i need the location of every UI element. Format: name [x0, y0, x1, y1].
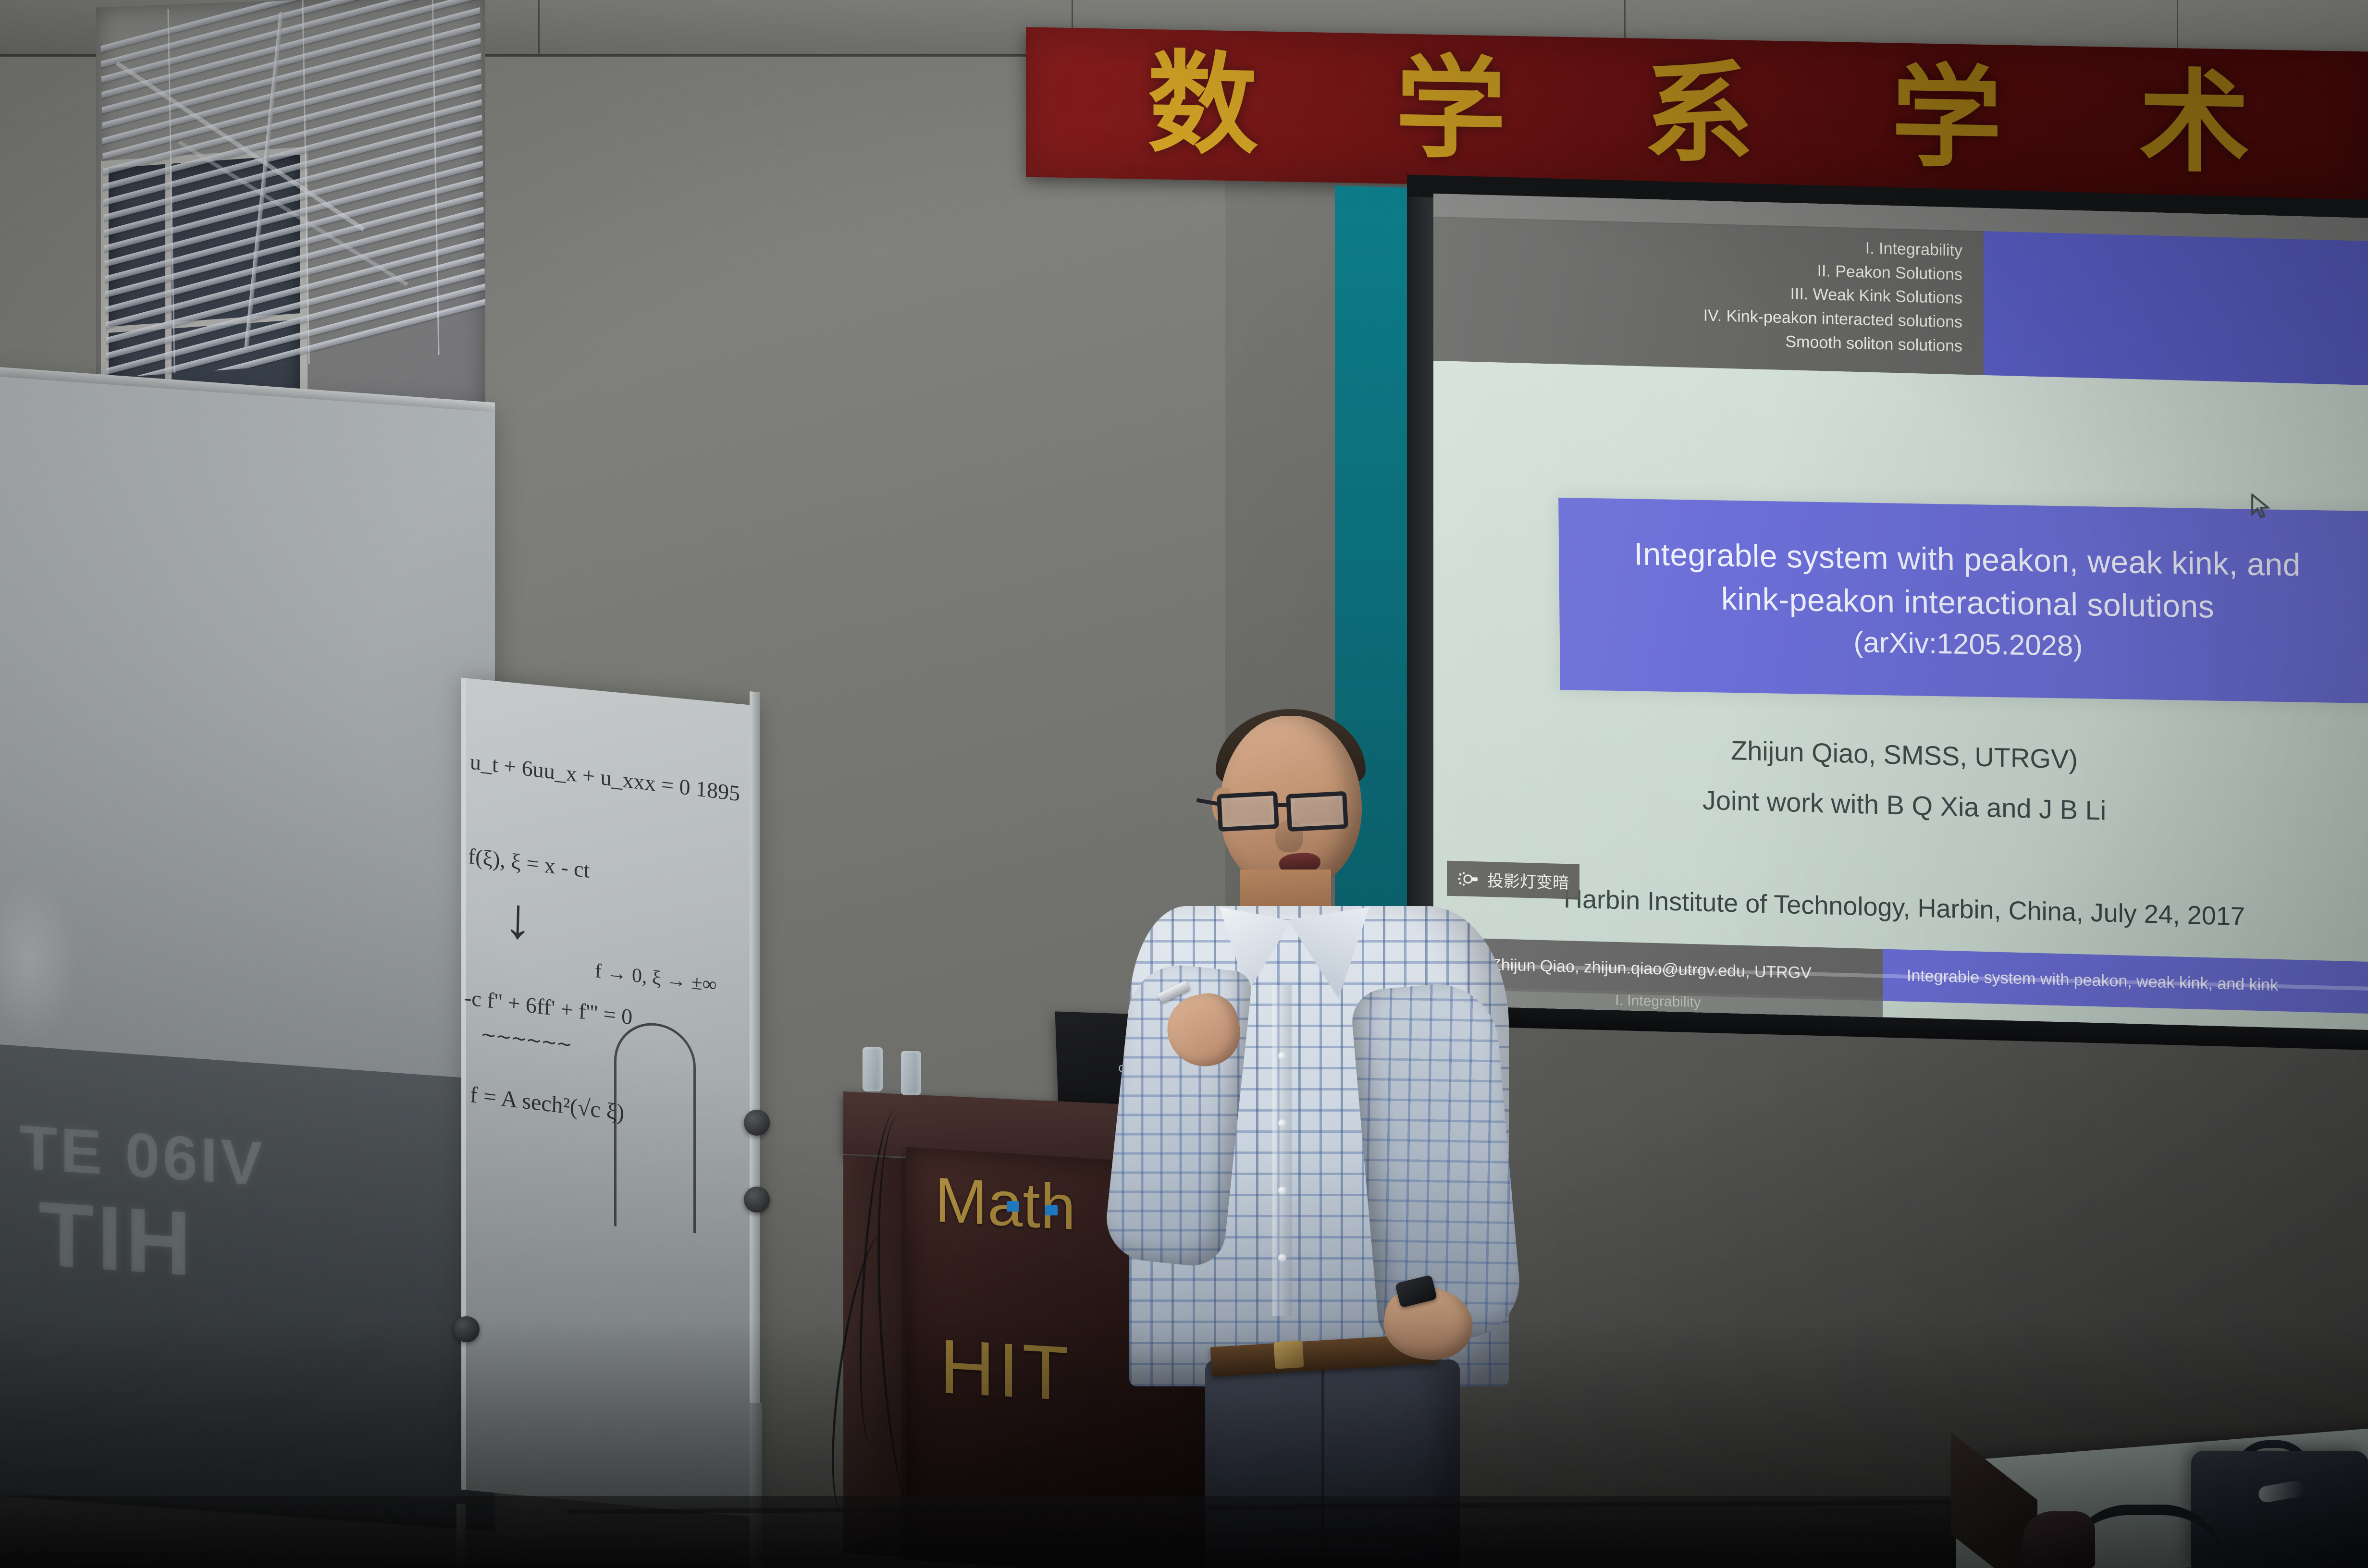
slide-title-line-1: Integrable system with peakon, weak kink…: [1559, 534, 2368, 584]
banner-char-5: 术: [2139, 67, 2250, 180]
whiteboard-on-stand: u_t + 6uu_x + u_xxx = 0 1895 f(ξ), ξ = x…: [461, 692, 788, 1568]
speaker-belt-buckle: [1273, 1340, 1304, 1369]
podium-plaque-hit: HIT: [939, 1322, 1072, 1418]
left-screen-ghost-text-2: TIH: [38, 1181, 194, 1297]
whiteboard-down-arrow: ↓: [503, 897, 533, 941]
mouse-pointer-icon[interactable]: [2250, 493, 2271, 522]
slide-outline-panel: I. Integrability II. Peakon Solutions II…: [1433, 217, 1984, 375]
bottle-body: [863, 1047, 883, 1091]
bottle-body: [901, 1051, 921, 1095]
water-bottle-rear[interactable]: [863, 1047, 883, 1091]
venetian-blinds[interactable]: [100, 0, 486, 378]
speaker-eyeglasses: [1214, 789, 1372, 835]
slide-title-band: Integrable system with peakon, weak kink…: [1558, 498, 2368, 703]
whiteboard-knob-upper[interactable]: [744, 1110, 770, 1136]
slide-title-line-2: kink-peakon interactional solutions: [1559, 577, 2368, 627]
lecture-hall-photo: TE 06IV TIH u_t + 6uu_x + u_xxx = 0 1895…: [0, 0, 2368, 1568]
foreground-shoe: [2023, 1511, 2095, 1568]
bottle-cap: [1045, 1205, 1058, 1215]
speaker-presenter: [1096, 716, 1576, 1568]
banner-char-1: 数: [1147, 49, 1258, 161]
speaker-shirt-placket: [1272, 985, 1292, 1316]
banner-char-3: 系: [1643, 58, 1754, 171]
whiteboard-frame-right: [750, 691, 760, 1504]
left-screen-highlight: [0, 876, 77, 1046]
whiteboard-soliton-sketch: [614, 1020, 696, 1234]
water-bottle-front[interactable]: [901, 1051, 921, 1095]
bottle-cap: [1007, 1201, 1019, 1212]
department-academic-banner: 数 学 系 学 术: [1026, 27, 2368, 201]
whiteboard-knob-left[interactable]: [454, 1316, 480, 1342]
slide-accent-chip: [1984, 231, 2368, 385]
banner-char-4: 学: [1891, 62, 2002, 175]
whiteboard-knob-lower[interactable]: [744, 1187, 770, 1213]
slide-arxiv-id: (arXiv:1205.2028): [1560, 620, 2368, 667]
banner-char-2: 学: [1395, 53, 1506, 166]
podium-plaque-math: Math: [935, 1163, 1075, 1244]
